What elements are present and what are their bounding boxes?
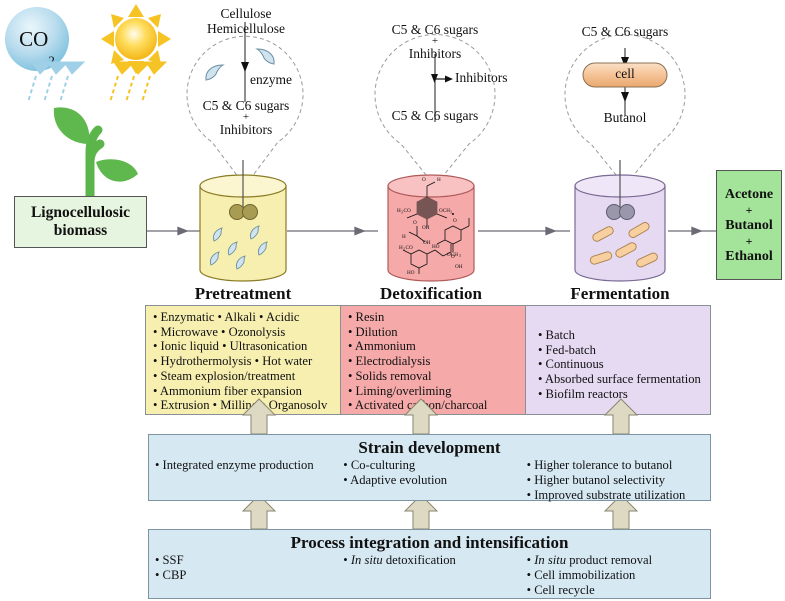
list-item: • Cell immobilization <box>527 568 710 583</box>
list-item: • Higher tolerance to butanol <box>527 458 710 473</box>
strain-column-1: • Integrated enzyme production <box>149 458 343 503</box>
list-item-italic: • In situ product removal <box>527 553 710 568</box>
list-item: • Higher butanol selectivity <box>527 473 710 488</box>
process-column-1: • SSF • CBP <box>149 553 343 598</box>
list-item: • Improved substrate utilization <box>527 488 710 503</box>
process-integration-title: Process integration and intensification <box>149 532 710 553</box>
strain-development-title: Strain development <box>149 437 710 458</box>
list-item: • Adaptive evolution <box>343 473 526 488</box>
strain-column-3: • Higher tolerance to butanol • Higher b… <box>527 458 710 503</box>
list-item: • SSF <box>155 553 343 568</box>
process-column-3: • In situ product removal • Cell immobil… <box>527 553 710 598</box>
list-item: • Integrated enzyme production <box>155 458 343 473</box>
strain-column-2: • Co-culturing • Adaptive evolution <box>343 458 526 503</box>
list-item: • CBP <box>155 568 343 583</box>
block-arrows-upper <box>0 0 785 601</box>
list-item: • Co-culturing <box>343 458 526 473</box>
list-item-italic: • In situ detoxification <box>343 553 526 568</box>
list-item: • Cell recycle <box>527 583 710 598</box>
strain-development-band: Strain development • Integrated enzyme p… <box>148 434 711 501</box>
process-integration-band: Process integration and intensification … <box>148 529 711 599</box>
process-column-2: • In situ detoxification <box>343 553 526 598</box>
